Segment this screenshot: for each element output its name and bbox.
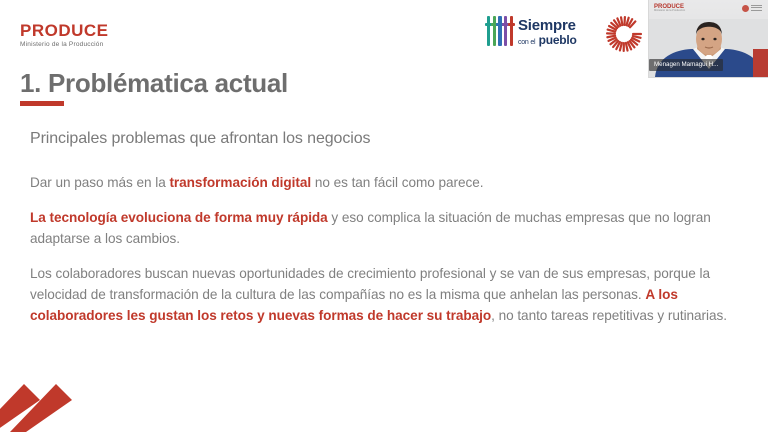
backdrop-logo-lines (751, 5, 762, 12)
backdrop-produce-logo: PRODUCE Ministerio de la Producción (654, 4, 685, 13)
body-paragraph: La tecnología evoluciona de forma muy rá… (30, 207, 730, 249)
backdrop-secondary-logo (742, 5, 762, 12)
slide-subtitle: Principales problemas que afrontan los n… (30, 130, 370, 148)
corner-slashes-decoration (0, 370, 96, 432)
produce-logo: PRODUCE Ministerio de la Producción (20, 22, 109, 48)
siempre-logo-line2-bold: pueblo (539, 33, 577, 47)
title-underline-accent (20, 101, 64, 106)
backdrop-produce-logo-sub: Ministerio de la Producción (654, 10, 685, 13)
body-text: , no tanto tareas repetitivas y rutinari… (491, 308, 727, 323)
tally-marks-icon (487, 16, 513, 48)
slide-body: Dar un paso más en la transformación dig… (30, 172, 730, 326)
highlighted-text: La tecnología evoluciona de forma muy rá… (30, 210, 328, 225)
siempre-logo-line2: con el pueblo (518, 34, 577, 46)
backdrop-swirl-icon (742, 5, 749, 12)
produce-logo-name: PRODUCE (20, 22, 109, 39)
body-paragraph: Los colaboradores buscan nuevas oportuni… (30, 263, 730, 326)
presentation-slide: PRODUCE Ministerio de la Producción Siem… (0, 0, 768, 432)
siempre-logo-line1: Siempre (518, 18, 577, 33)
highlighted-text: transformación digital (169, 175, 311, 190)
siempre-con-el-pueblo-logo: Siempre con el pueblo (487, 16, 577, 48)
body-paragraph: Dar un paso más en la transformación dig… (30, 172, 730, 193)
body-text: Dar un paso más en la (30, 175, 169, 190)
siempre-logo-line2-small: con el (518, 39, 535, 46)
siempre-logo-text: Siempre con el pueblo (518, 18, 577, 46)
body-text: Los colaboradores buscan nuevas oportuni… (30, 266, 710, 302)
body-text: no es tan fácil como parece. (311, 175, 483, 190)
produce-logo-subtitle: Ministerio de la Producción (20, 42, 109, 49)
page-title: 1. Problématica actual (20, 68, 288, 99)
participant-name-label: Menagen Mamagui H... (649, 59, 723, 71)
bicentenario-swirl-icon (602, 14, 646, 54)
video-participant-tile[interactable]: PRODUCE Ministerio de la Producción Mena… (648, 0, 768, 78)
